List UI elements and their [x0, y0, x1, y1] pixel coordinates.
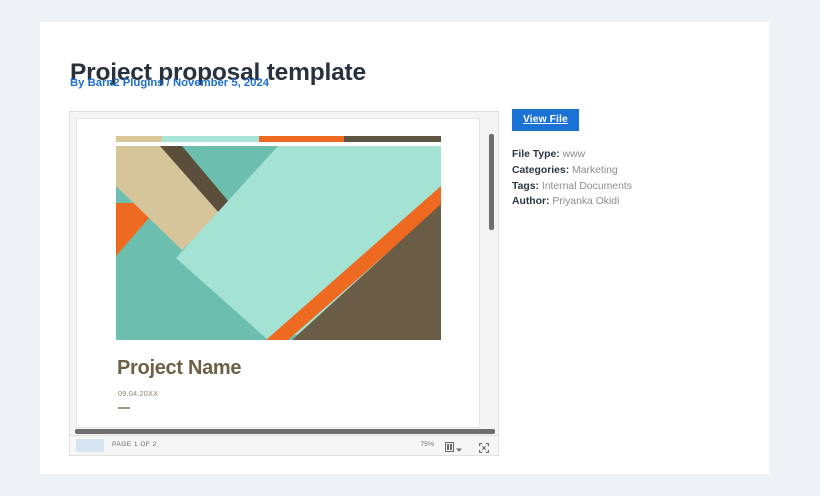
meta-row: Tags: Internal Documents [512, 179, 742, 195]
meta-label: Categories: [512, 165, 569, 176]
chevron-down-icon [456, 439, 462, 456]
horizontal-scrollbar[interactable] [75, 429, 495, 434]
page-layout-icon [445, 439, 454, 456]
view-file-button[interactable]: View File [512, 109, 579, 131]
document-viewer[interactable]: Project Name 09.04.20XX PAGE 1 OF 2 75% [69, 111, 499, 456]
page-layout-button[interactable] [445, 439, 462, 456]
thumbnail-toggle-icon[interactable] [76, 439, 104, 452]
meta-value: www [560, 149, 585, 160]
page-indicator: PAGE 1 OF 2 [112, 441, 157, 448]
vertical-scrollbar[interactable] [485, 118, 494, 428]
pdf-page: Project Name 09.04.20XX [77, 119, 479, 428]
top-rule-segment-khaki [116, 136, 162, 142]
meta-row: Categories: Marketing [512, 163, 742, 179]
document-top-rule [116, 136, 441, 142]
top-rule-segment-orange [259, 136, 344, 142]
document-title: Project Name [117, 357, 241, 380]
meta-label: Author: [512, 196, 550, 207]
file-meta-list: File Type: wwwCategories: MarketingTags:… [512, 147, 742, 210]
document-divider-dash [118, 407, 130, 409]
meta-value: Priyanka Okidi [550, 196, 620, 207]
zoom-level[interactable]: 75% [420, 441, 434, 448]
top-rule-segment-mint [162, 136, 260, 142]
meta-label: File Type: [512, 149, 560, 160]
meta-value: Internal Documents [539, 181, 632, 192]
top-rule-segment-brown [344, 136, 442, 142]
meta-row: Author: Priyanka Okidi [512, 194, 742, 210]
document-date: 09.04.20XX [118, 389, 158, 398]
byline[interactable]: By Barn2 Plugins / November 5, 2024 [70, 77, 269, 89]
fullscreen-icon [479, 440, 489, 456]
meta-value: Marketing [569, 165, 618, 176]
vertical-scrollbar-thumb[interactable] [489, 134, 494, 230]
document-artwork [116, 146, 441, 340]
file-meta-panel: View File File Type: wwwCategories: Mark… [512, 109, 742, 210]
viewer-toolbar: PAGE 1 OF 2 75% [70, 435, 498, 455]
viewer-scroll-area[interactable]: Project Name 09.04.20XX [76, 118, 480, 428]
fullscreen-button[interactable] [479, 440, 489, 456]
content-card: Project proposal template By Barn2 Plugi… [40, 22, 769, 474]
meta-label: Tags: [512, 181, 539, 192]
meta-row: File Type: www [512, 147, 742, 163]
